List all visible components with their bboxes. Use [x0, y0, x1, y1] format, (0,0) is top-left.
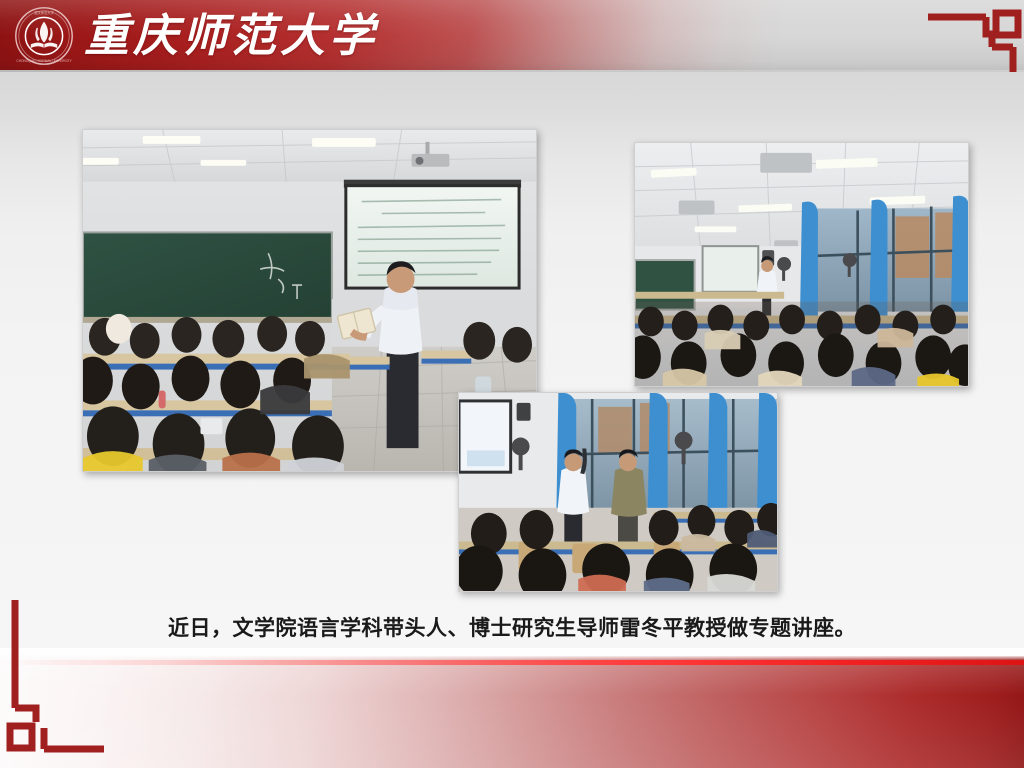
university-seal-icon: 重庆师范大学 CHONGQING NORMAL UNIVERSITY [14, 6, 74, 66]
corner-ornament-bottom-left [4, 600, 104, 760]
footer-banner [0, 656, 1024, 768]
svg-text:CHONGQING NORMAL UNIVERSITY: CHONGQING NORMAL UNIVERSITY [16, 59, 72, 63]
footer-white-highlight [0, 648, 1024, 660]
footer-sheen-overlay [0, 656, 1024, 768]
photo-classroom-wide [634, 142, 969, 387]
footer-accent-line [0, 660, 1024, 665]
photo-interaction [458, 392, 778, 592]
university-name: 重庆师范大学 [84, 8, 378, 64]
slide-canvas: 重庆师范大学 CHONGQING NORMAL UNIVERSITY 重庆师范大… [0, 0, 1024, 768]
slide-caption: 近日，文学院语言学科带头人、博士研究生导师雷冬平教授做专题讲座。 [0, 612, 1024, 642]
svg-text:重庆师范大学: 重庆师范大学 [34, 10, 54, 15]
